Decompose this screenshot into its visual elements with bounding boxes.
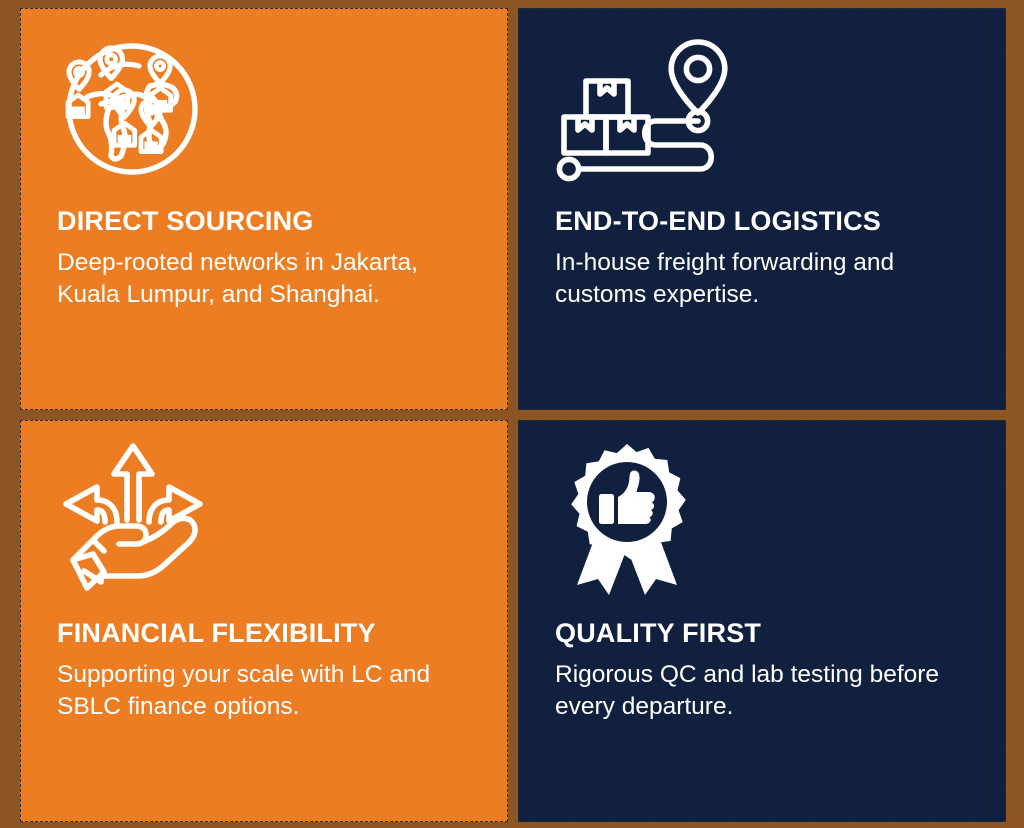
card-quality-first[interactable]: QUALITY FIRST Rigorous QC and lab testin… bbox=[518, 420, 1006, 822]
card-end-to-end-logistics[interactable]: END-TO-END LOGISTICS In-house freight fo… bbox=[518, 8, 1006, 410]
grid-gutter-vertical-bottom bbox=[508, 420, 518, 822]
card-description: Supporting your scale with LC and SBLC f… bbox=[57, 659, 461, 724]
card-description: In-house freight forwarding and customs … bbox=[555, 247, 965, 312]
feature-grid: DIRECT SOURCING Deep-rooted networks in … bbox=[0, 0, 1024, 828]
card-title: DIRECT SOURCING bbox=[57, 207, 467, 237]
globe-location-pins-icon bbox=[57, 33, 467, 185]
card-direct-sourcing[interactable]: DIRECT SOURCING Deep-rooted networks in … bbox=[20, 8, 508, 410]
hand-three-arrows-icon bbox=[57, 439, 467, 597]
grid-gutter-center bbox=[508, 410, 518, 420]
card-financial-flexibility[interactable]: FINANCIAL FLEXIBILITY Supporting your sc… bbox=[20, 420, 508, 822]
grid-gutter-horizontal-left bbox=[20, 410, 508, 420]
card-description: Rigorous QC and lab testing before every… bbox=[555, 659, 965, 724]
rosette-thumbs-up-icon bbox=[555, 439, 965, 597]
grid-gutter-horizontal-right bbox=[518, 410, 1006, 420]
boxes-route-pin-icon bbox=[555, 33, 965, 185]
card-title: END-TO-END LOGISTICS bbox=[555, 207, 965, 237]
card-description: Deep-rooted networks in Jakarta, Kuala L… bbox=[57, 247, 457, 312]
card-title: FINANCIAL FLEXIBILITY bbox=[57, 619, 467, 649]
grid-gutter-vertical-top bbox=[508, 8, 518, 410]
card-title: QUALITY FIRST bbox=[555, 619, 965, 649]
